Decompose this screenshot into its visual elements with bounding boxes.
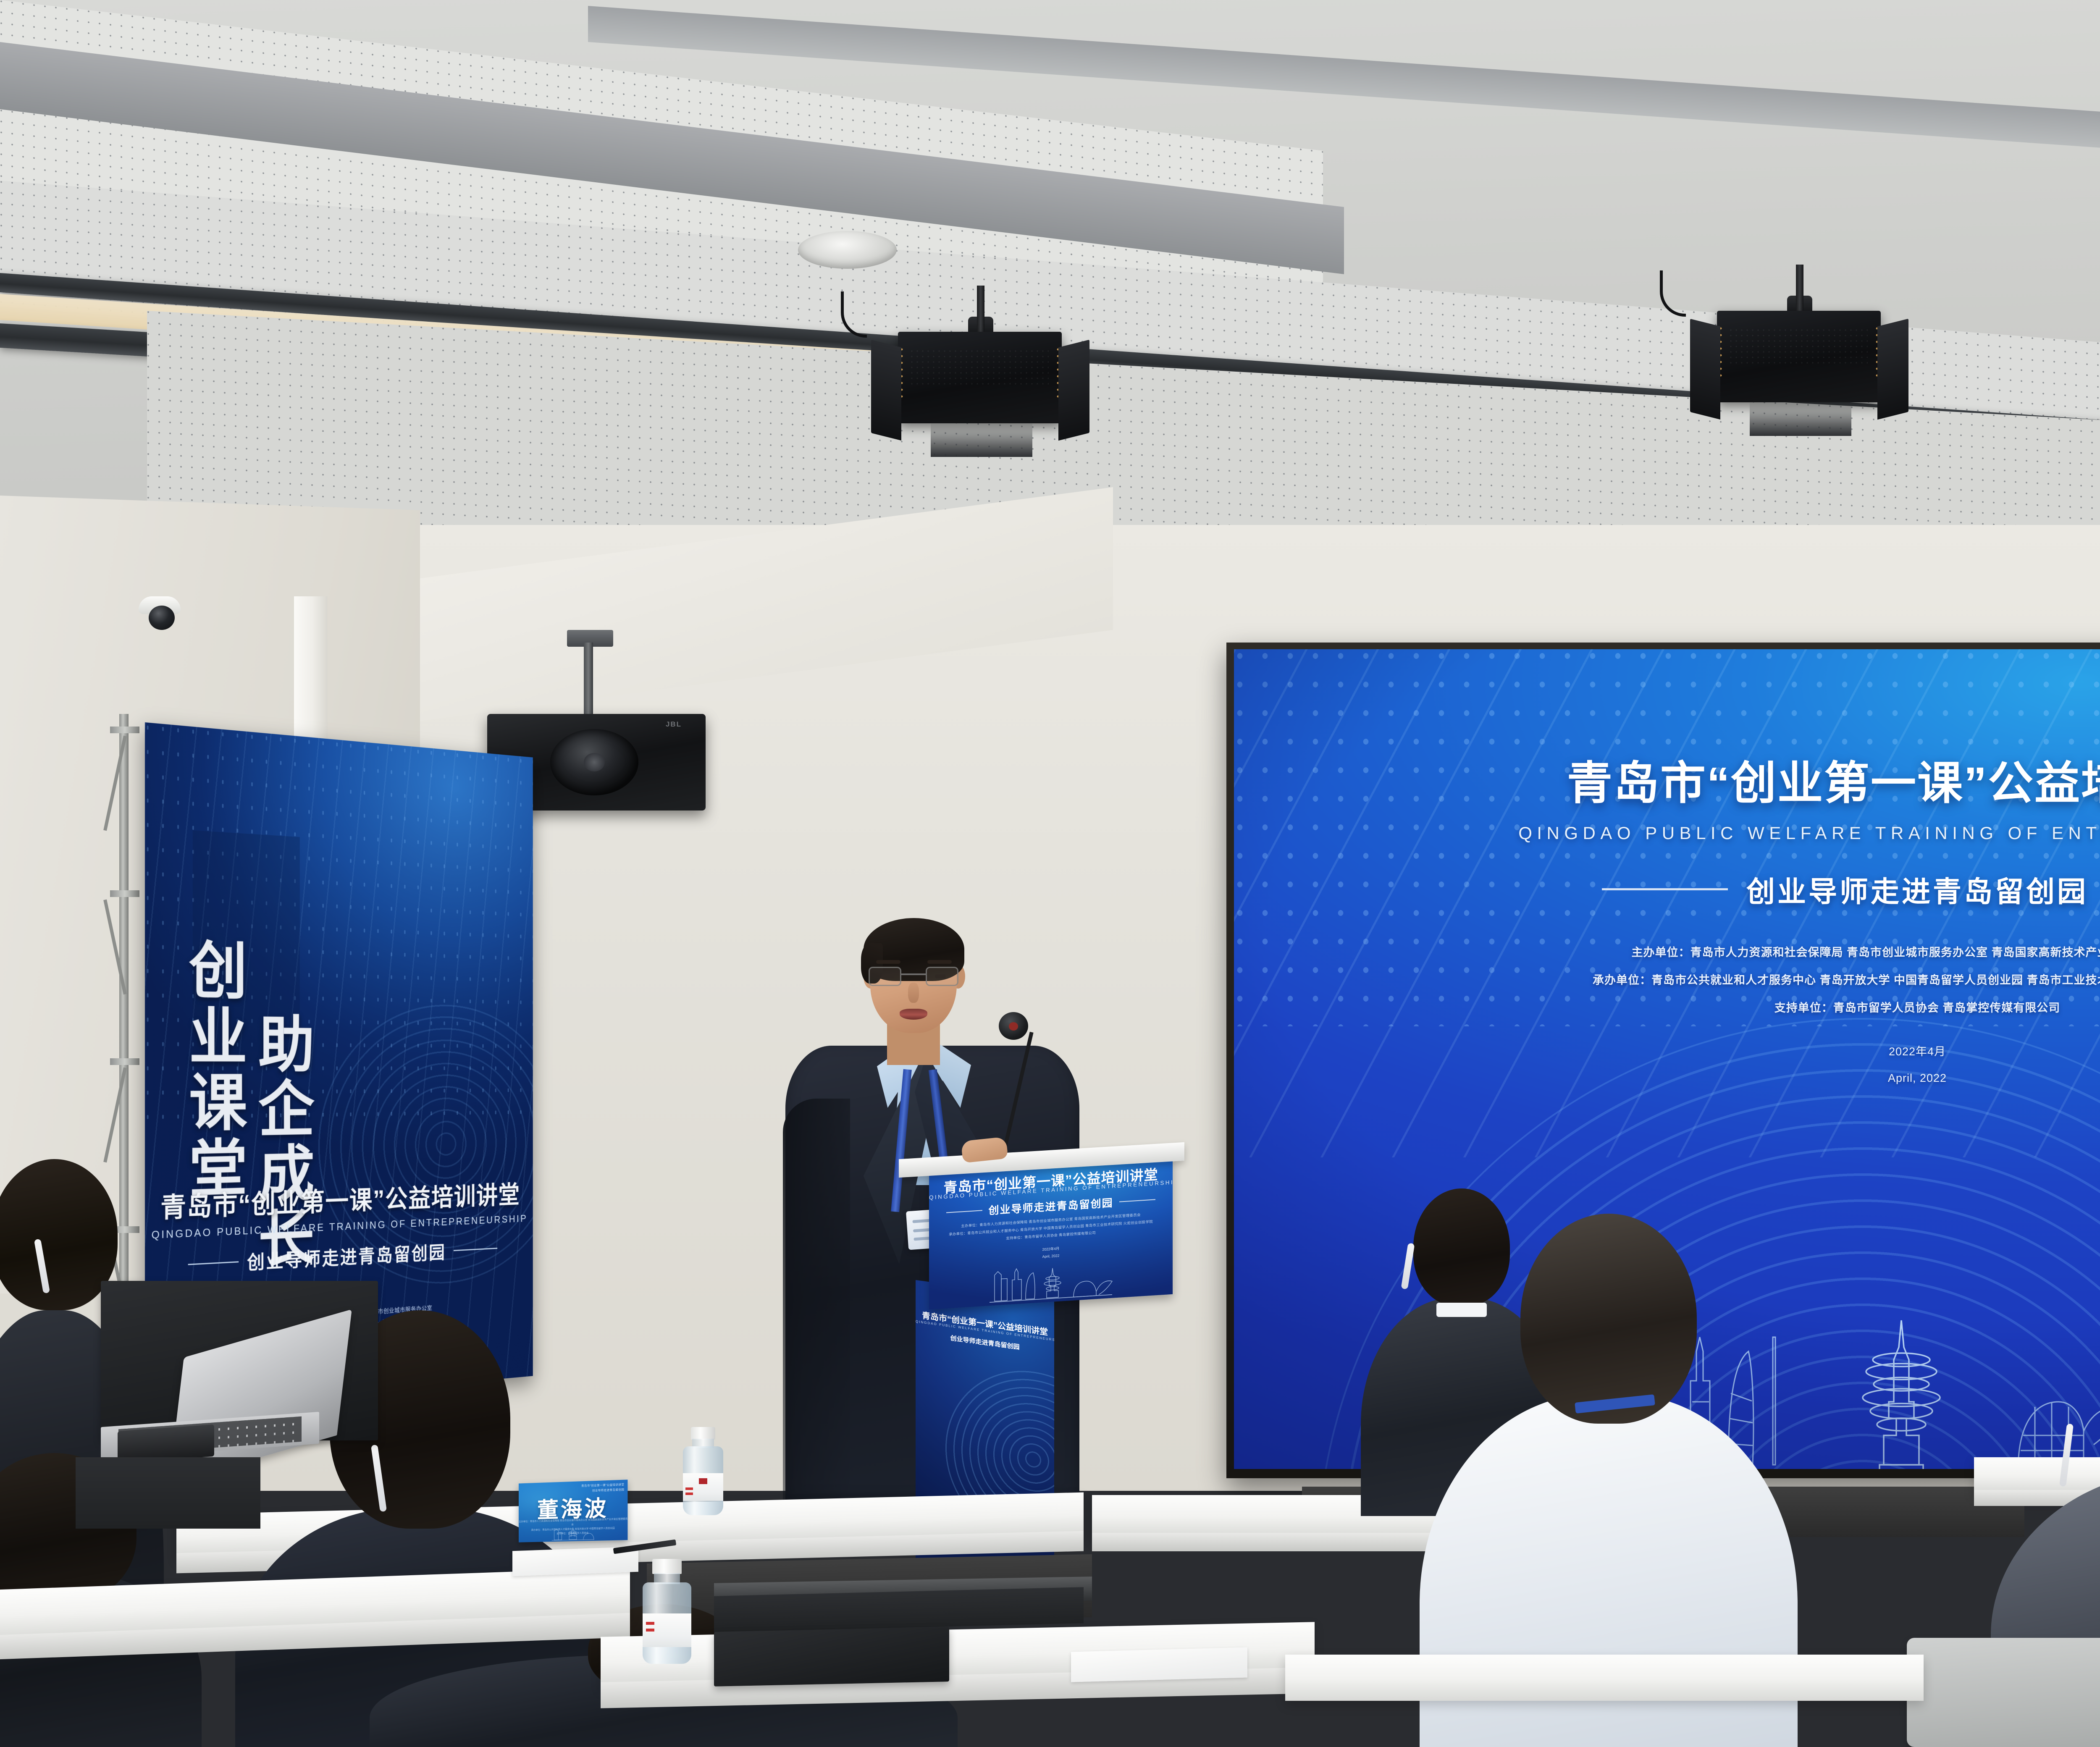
- presenter-eyebrow-left: [876, 960, 900, 964]
- truss-brace: [110, 727, 139, 733]
- presenter-eyebrow-right: [927, 960, 952, 964]
- podium-rule-left: [946, 1210, 982, 1213]
- glasses-bridge: [901, 973, 926, 975]
- camera-lens: [149, 606, 175, 630]
- light-hanger-rod: [1796, 265, 1803, 315]
- ceiling-speaker-icon: [798, 231, 897, 269]
- led-panel-diffuser: [1730, 329, 1868, 368]
- barn-door-left: [1690, 319, 1720, 420]
- banner-rule-left: [188, 1261, 239, 1265]
- barn-door-right: [1877, 319, 1908, 420]
- audience-head: [0, 1159, 118, 1310]
- presenter-mouth: [900, 1009, 927, 1020]
- microphone-icon: [999, 1012, 1028, 1040]
- face-mask-strap: [1401, 1243, 1415, 1289]
- stage-led-light-1: [857, 332, 1105, 458]
- bottle-cap: [691, 1427, 715, 1440]
- dome-camera-icon: [139, 596, 181, 632]
- truss-brace: [110, 890, 139, 897]
- barn-door-bottom: [1750, 400, 1851, 436]
- speaker-woofer-icon: [550, 729, 638, 795]
- stage-led-light-2: [1676, 311, 1924, 437]
- glasses-lens-right: [926, 967, 958, 986]
- barn-door-right: [1058, 340, 1089, 441]
- conference-room-photo: JBL 创业课堂 助企成长 青岛市“创业第一课”公益培训讲堂 QINGDAO P…: [0, 0, 2100, 1747]
- podium-front-panel: 青岛市“创业第一课”公益培训讲堂 QINGDAO PUBLIC WELFARE …: [929, 1156, 1173, 1309]
- led-panel-body: [1717, 311, 1881, 402]
- led-panel-diffuser: [911, 350, 1049, 389]
- podium-skyline-graphic: [984, 1256, 1118, 1304]
- speaker-brand-label: JBL: [659, 720, 689, 729]
- banner-rule-right: [454, 1248, 497, 1251]
- glasses-lens-left: [869, 967, 901, 986]
- barn-door-left: [871, 340, 901, 441]
- audience-head: [1520, 1214, 1697, 1424]
- face-mask-strap: [2059, 1424, 2074, 1487]
- podium-rule-right: [1119, 1199, 1155, 1202]
- presenter-nose: [908, 983, 919, 1003]
- speaker-mount-arm: [584, 643, 593, 718]
- barn-door-bottom: [931, 421, 1032, 457]
- led-panel-body: [898, 332, 1062, 423]
- truss-brace: [110, 1058, 139, 1065]
- light-hanger-rod: [977, 286, 984, 336]
